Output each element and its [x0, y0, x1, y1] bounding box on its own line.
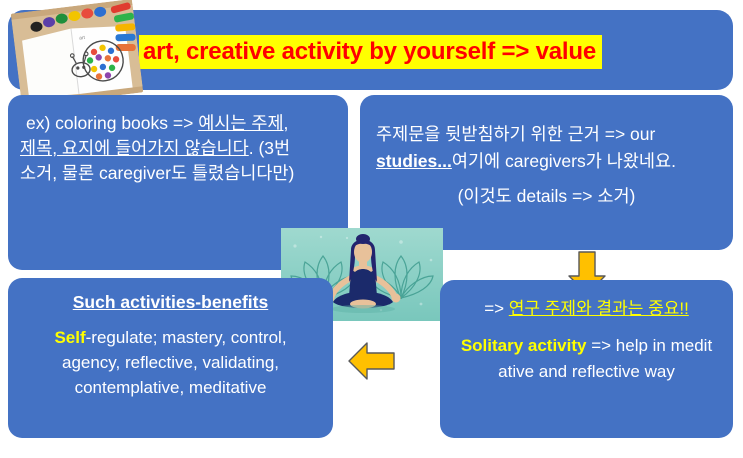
solitary-line-1: Solitary activity => help in medit — [448, 333, 725, 359]
right-note-studies-term: studies... — [376, 151, 452, 171]
solitary-activity-box: => 연구 주제와 결과는 중요!! Solitary activity => … — [440, 280, 733, 438]
page-title: art, creative activity by yourself => va… — [143, 40, 596, 64]
solitary-title-highlight: 연구 주제와 결과는 중요!! — [509, 299, 689, 318]
solitary-line-1-rest: => help in medit — [586, 336, 712, 355]
left-note-line-2: 제목, 요지에 들어가지 않습니다. (3번 — [20, 136, 336, 161]
benefits-line-1: Self-regulate; mastery, control, — [22, 325, 319, 350]
left-note-line-2-underline: 제목, 요지에 들어가지 않습니다 — [20, 138, 249, 158]
benefits-box: Such activities-benefits Self-regulate; … — [8, 278, 333, 438]
benefits-line-2: agency, reflective, validating, — [22, 350, 319, 375]
solitary-line-2: ative and reflective way — [448, 359, 725, 385]
right-note-line-2: studies...여기에 caregivers가 나왔네요. — [370, 148, 723, 175]
header-title-highlight: art, creative activity by yourself => va… — [139, 35, 602, 69]
left-note-line-1-underline: 예시는 주제, — [198, 113, 288, 133]
left-note-line-2-plain: . (3번 — [249, 138, 290, 158]
evidence-note-box: 주제문을 뒷받침하기 위한 근거 => our studies...여기에 ca… — [360, 95, 733, 250]
coloring-book-photo: art — [11, 0, 144, 107]
left-note-line-1-plain: ex) coloring books => — [26, 113, 198, 133]
solitary-bold-term: Solitary activity — [461, 336, 587, 355]
benefits-title: Such activities-benefits — [22, 292, 319, 313]
right-note-line-2-plain: 여기에 caregivers가 나왔네요. — [452, 151, 676, 171]
right-note-line-1: 주제문을 뒷받침하기 위한 근거 => our — [370, 121, 723, 148]
left-note-line-3: 소거, 물론 caregiver도 틀렸습니다만) — [20, 161, 336, 186]
right-note-line-3: (이것도 details => 소거) — [370, 175, 723, 210]
benefits-highlight-word: Self — [54, 328, 85, 347]
solitary-arrow-prefix: => — [484, 299, 509, 318]
benefits-line-3: contemplative, meditative — [22, 375, 319, 400]
slide-canvas: art, creative activity by yourself => va… — [0, 0, 743, 458]
arrow-left-icon — [347, 338, 397, 384]
solitary-title: => 연구 주제와 결과는 중요!! — [448, 294, 725, 319]
benefits-line-1-rest: -regulate; mastery, control, — [86, 328, 287, 347]
left-note-line-1: ex) coloring books => 예시는 주제, — [20, 111, 336, 136]
